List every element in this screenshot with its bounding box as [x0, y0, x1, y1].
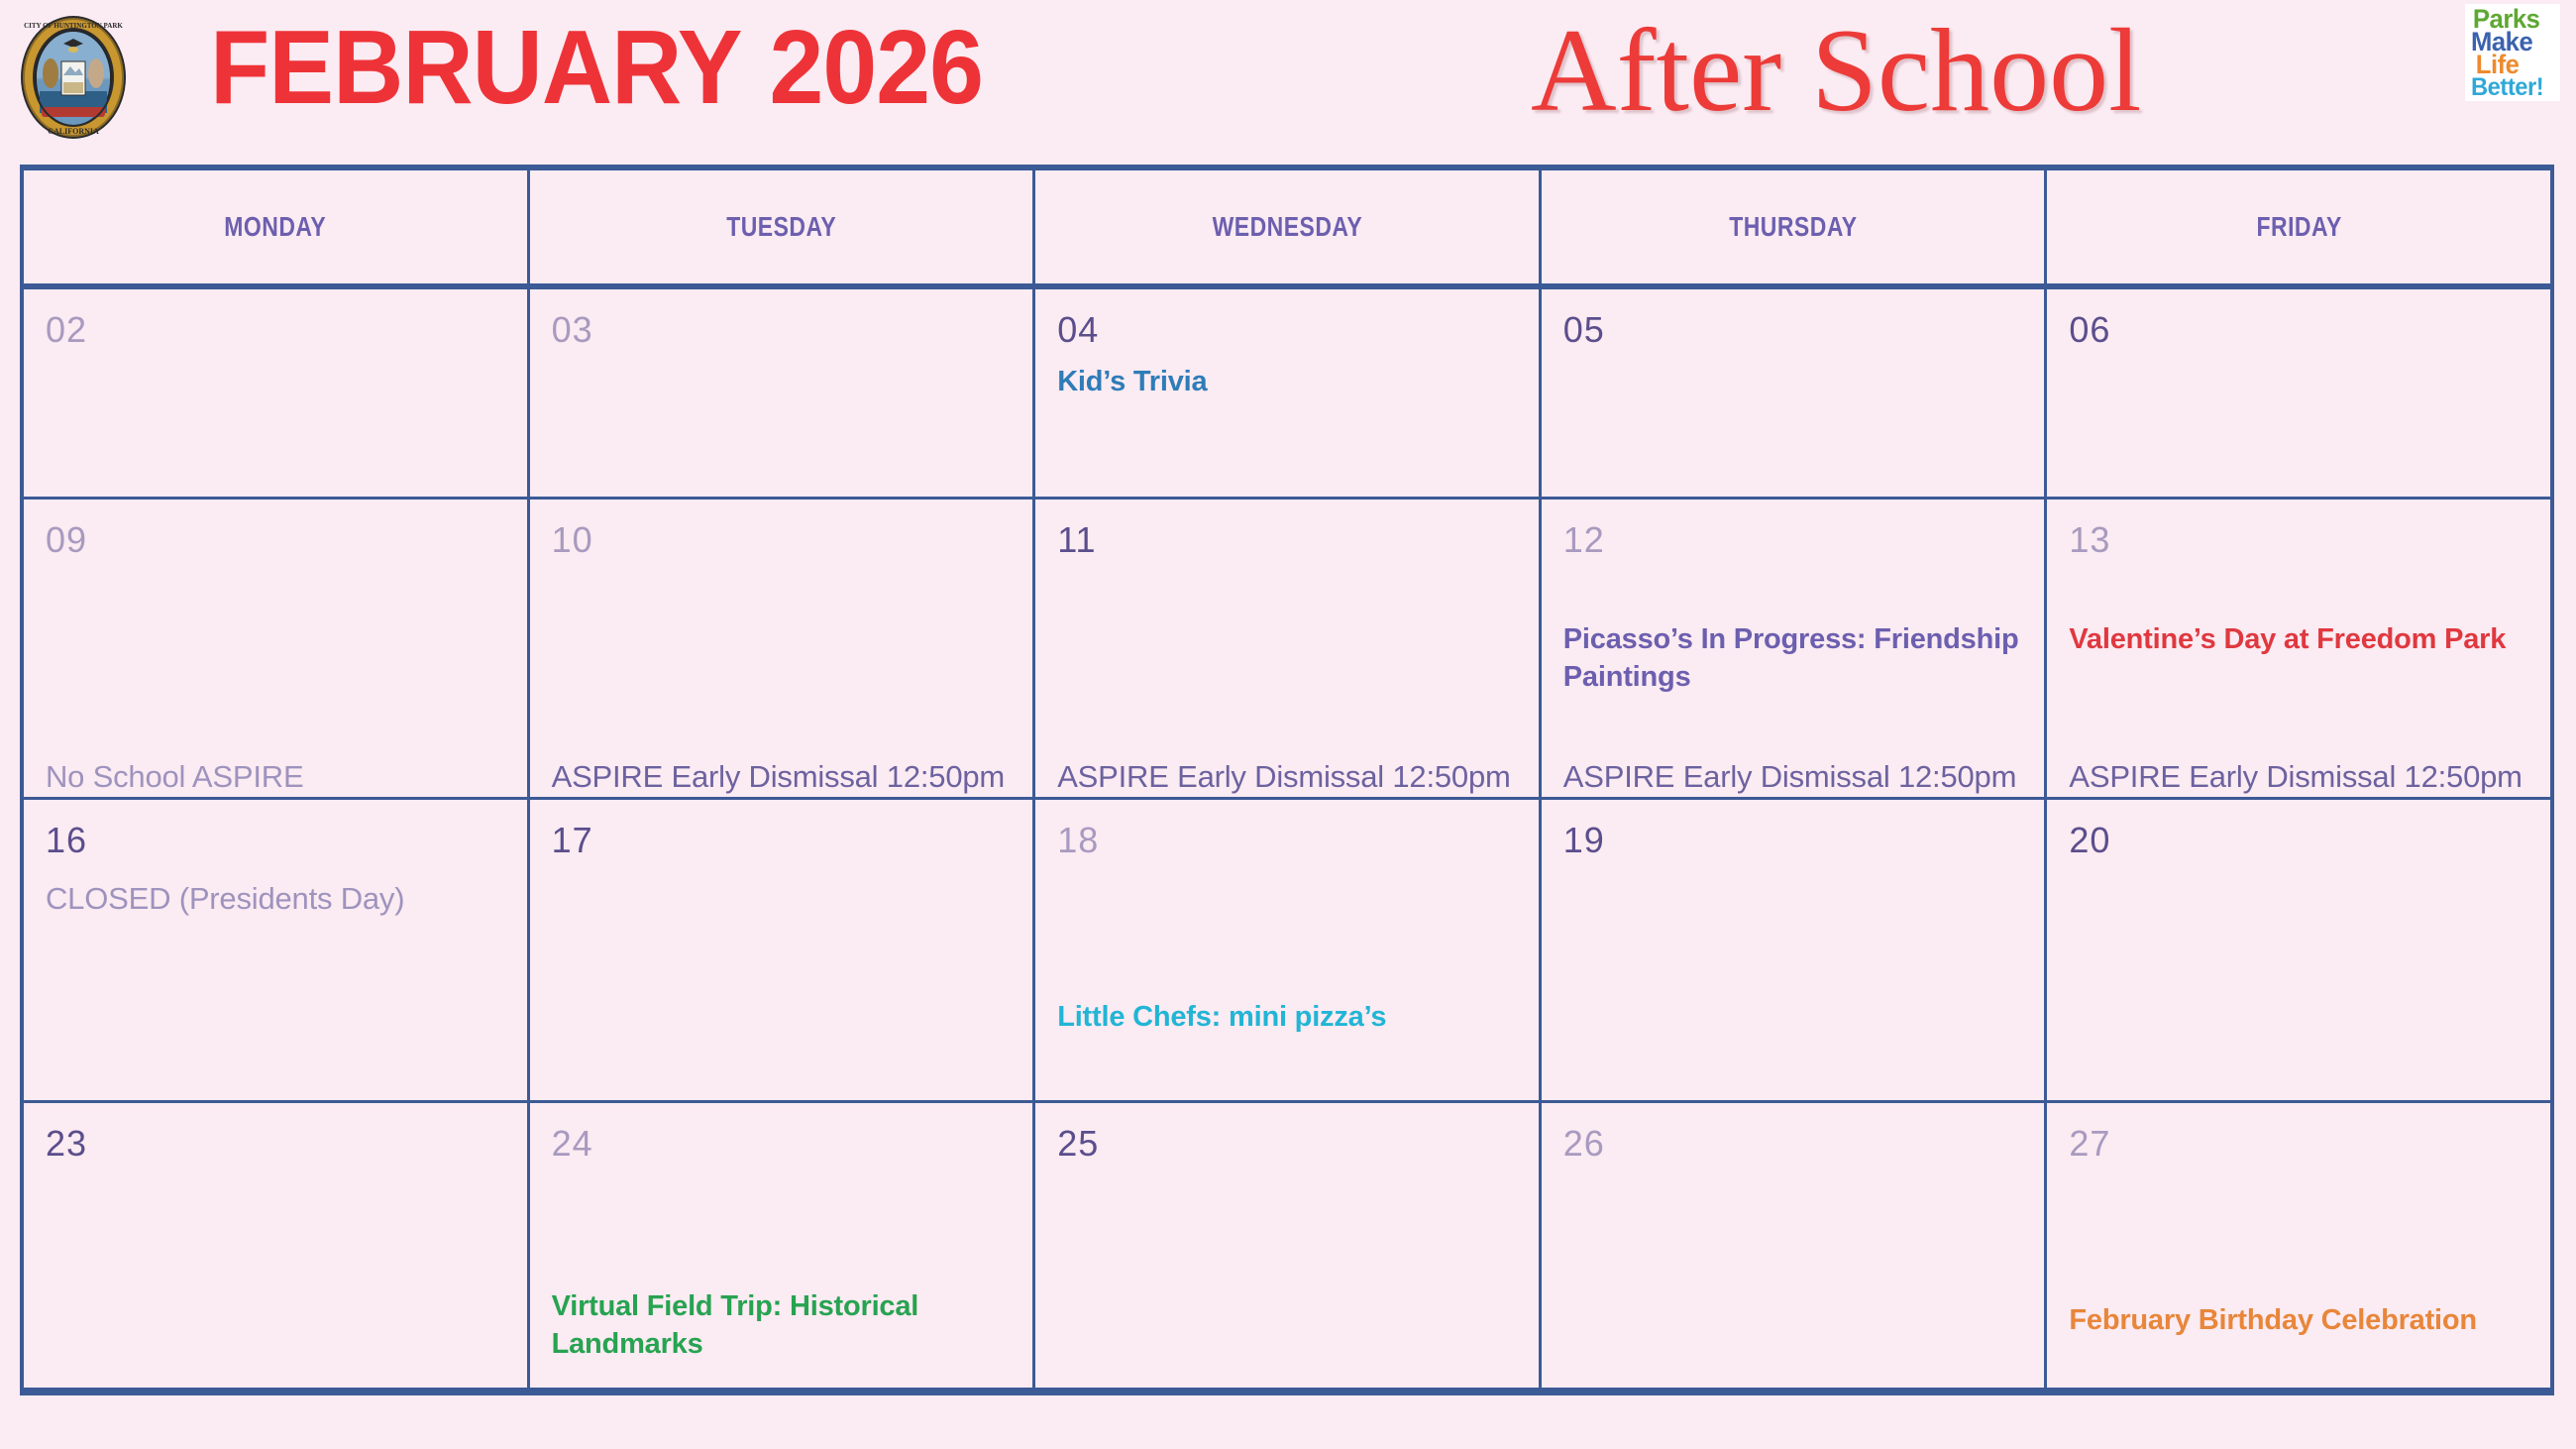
- day-cell-04[interactable]: 04 Kid’s Trivia: [1035, 289, 1542, 497]
- day-number: 06: [2069, 311, 2528, 349]
- day-cell-16[interactable]: 16 CLOSED (Presidents Day): [24, 800, 530, 1100]
- day-note: CLOSED (Presidents Day): [46, 881, 513, 917]
- seal-bottom-text: CALIFORNIA: [48, 127, 99, 136]
- day-header-friday: FRIDAY: [2047, 170, 2550, 283]
- seal-top-text: CITY OF HUNTINGTON PARK: [24, 22, 123, 30]
- day-number: 09: [46, 521, 505, 559]
- day-number: 12: [1563, 521, 2023, 559]
- day-cell-06[interactable]: 06: [2047, 289, 2550, 497]
- calendar-page: CITY OF HUNTINGTON PARK CALIFORNIA FEBRU…: [0, 0, 2576, 1449]
- day-cell-09[interactable]: 09 No School ASPIRE: [24, 500, 530, 797]
- day-note: ASPIRE Early Dismissal 12:50pm: [1563, 759, 2031, 795]
- day-number: 19: [1563, 822, 2023, 859]
- day-number: 02: [46, 311, 505, 349]
- day-cell-12[interactable]: 12 Picasso’s In Progress: Friendship Pai…: [1542, 500, 2048, 797]
- calendar-week-row: 02 03 04 Kid’s Trivia 05 06: [24, 289, 2550, 500]
- day-number: 27: [2069, 1125, 2528, 1163]
- day-number: 16: [46, 822, 505, 859]
- day-cell-25[interactable]: 25: [1035, 1103, 1542, 1388]
- day-number: 20: [2069, 822, 2528, 859]
- day-number: 23: [46, 1125, 505, 1163]
- day-cell-03[interactable]: 03: [530, 289, 1036, 497]
- day-number: 18: [1057, 822, 1517, 859]
- day-number: 25: [1057, 1125, 1517, 1163]
- day-number: 17: [552, 822, 1012, 859]
- day-number: 05: [1563, 311, 2023, 349]
- month-label: FEBRUARY: [210, 9, 742, 126]
- day-number: 03: [552, 311, 1012, 349]
- page-header: CITY OF HUNTINGTON PARK CALIFORNIA FEBRU…: [0, 0, 2576, 164]
- event-label[interactable]: Little Chefs: mini pizza’s: [1057, 998, 1521, 1036]
- day-note: ASPIRE Early Dismissal 12:50pm: [2069, 759, 2536, 795]
- program-title: After School: [1531, 0, 2142, 145]
- day-cell-24[interactable]: 24 Virtual Field Trip: Historical Landma…: [530, 1103, 1036, 1388]
- day-cell-17[interactable]: 17: [530, 800, 1036, 1100]
- day-cell-05[interactable]: 05: [1542, 289, 2048, 497]
- day-cell-20[interactable]: 20: [2047, 800, 2550, 1100]
- day-header-label: THURSDAY: [1729, 211, 1857, 243]
- page-title: FEBRUARY2026: [210, 8, 983, 127]
- day-cell-10[interactable]: 10 ASPIRE Early Dismissal 12:50pm: [530, 500, 1036, 797]
- year-label: 2026: [742, 9, 983, 126]
- parks-logo-line-4: Better!: [2471, 76, 2551, 99]
- day-header-label: WEDNESDAY: [1212, 211, 1362, 243]
- day-cell-18[interactable]: 18 Little Chefs: mini pizza’s: [1035, 800, 1542, 1100]
- day-number: 04: [1057, 311, 1517, 349]
- day-of-week-header-row: MONDAY TUESDAY WEDNESDAY THURSDAY FRIDAY: [24, 170, 2550, 289]
- event-label[interactable]: Virtual Field Trip: Historical Landmarks: [552, 1287, 1016, 1363]
- day-header-label: TUESDAY: [726, 211, 836, 243]
- city-seal-icon: CITY OF HUNTINGTON PARK CALIFORNIA: [18, 14, 129, 141]
- day-note: ASPIRE Early Dismissal 12:50pm: [552, 759, 1020, 795]
- day-header-label: FRIDAY: [2256, 211, 2341, 243]
- event-label[interactable]: February Birthday Celebration: [2069, 1301, 2532, 1339]
- day-number: 13: [2069, 521, 2528, 559]
- day-cell-02[interactable]: 02: [24, 289, 530, 497]
- city-seal-logo: CITY OF HUNTINGTON PARK CALIFORNIA: [18, 14, 129, 141]
- day-header-tuesday: TUESDAY: [530, 170, 1036, 283]
- day-cell-27[interactable]: 27 February Birthday Celebration: [2047, 1103, 2550, 1388]
- calendar-week-row: 23 24 Virtual Field Trip: Historical Lan…: [24, 1103, 2550, 1388]
- event-label[interactable]: Valentine’s Day at Freedom Park: [2069, 620, 2532, 658]
- calendar-week-row: 09 No School ASPIRE 10 ASPIRE Early Dism…: [24, 500, 2550, 800]
- day-number: 26: [1563, 1125, 2023, 1163]
- day-cell-11[interactable]: 11 ASPIRE Early Dismissal 12:50pm: [1035, 500, 1542, 797]
- day-header-monday: MONDAY: [24, 170, 530, 283]
- day-header-thursday: THURSDAY: [1542, 170, 2048, 283]
- day-header-label: MONDAY: [224, 211, 326, 243]
- event-label[interactable]: Kid’s Trivia: [1057, 363, 1521, 400]
- event-label[interactable]: Picasso’s In Progress: Friendship Painti…: [1563, 620, 2027, 696]
- day-note: ASPIRE Early Dismissal 12:50pm: [1057, 759, 1525, 795]
- day-cell-19[interactable]: 19: [1542, 800, 2048, 1100]
- day-header-wednesday: WEDNESDAY: [1035, 170, 1542, 283]
- day-cell-26[interactable]: 26: [1542, 1103, 2048, 1388]
- parks-make-life-better-logo: Parks Make Life Better!: [2465, 4, 2560, 101]
- day-cell-13[interactable]: 13 Valentine’s Day at Freedom Park ASPIR…: [2047, 500, 2550, 797]
- calendar-grid: MONDAY TUESDAY WEDNESDAY THURSDAY FRIDAY…: [20, 165, 2554, 1395]
- day-note: No School ASPIRE: [46, 759, 513, 795]
- day-cell-23[interactable]: 23: [24, 1103, 530, 1388]
- day-number: 24: [552, 1125, 1012, 1163]
- calendar-week-row: 16 CLOSED (Presidents Day) 17 18 Little …: [24, 800, 2550, 1103]
- day-number: 10: [552, 521, 1012, 559]
- day-number: 11: [1057, 521, 1517, 559]
